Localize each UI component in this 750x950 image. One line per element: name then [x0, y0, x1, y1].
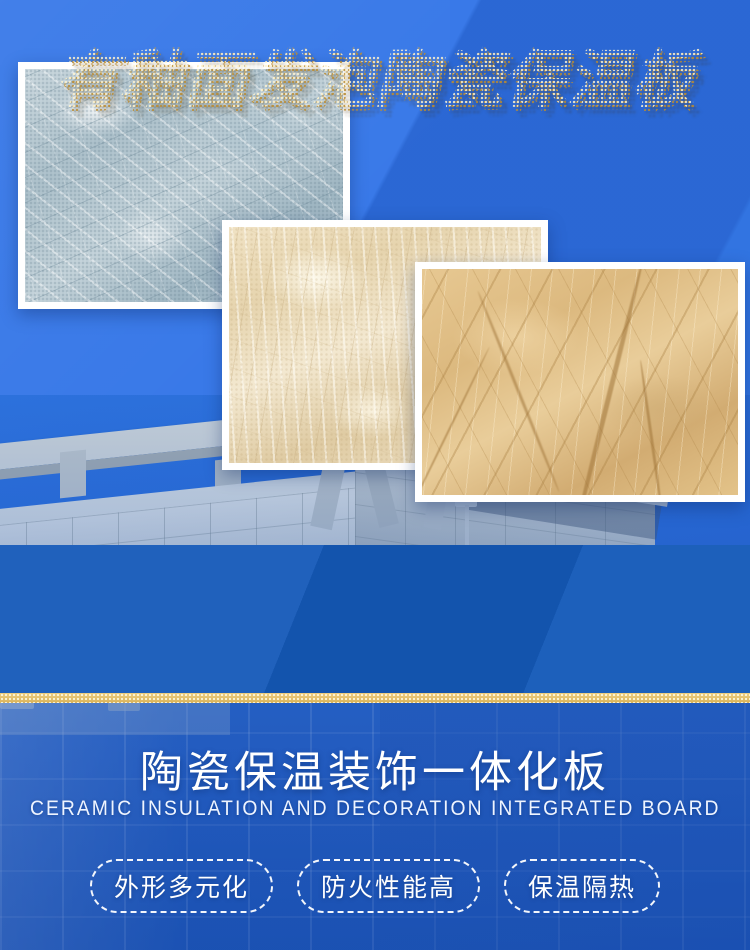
feature-badge-shape-diversity[interactable]: 外形多元化 — [90, 859, 273, 913]
marble-vein — [639, 360, 664, 495]
feature-badge-fire-resistance[interactable]: 防火性能高 — [297, 859, 480, 913]
subtitle-chinese: 陶瓷保温装饰一体化板 — [0, 738, 750, 800]
feature-badge-list: 外形多元化 防火性能高 保温隔热 — [0, 857, 750, 915]
product-banner: 有釉面发泡陶瓷保温板 陶瓷保温装饰一体化板 CERAMIC INSULATION… — [0, 0, 750, 950]
marble-vein — [476, 290, 560, 492]
sample-tile-tan-marble — [415, 262, 745, 502]
tile-surface-tan — [422, 269, 738, 495]
feature-badge-thermal-insulation[interactable]: 保温隔热 — [504, 859, 660, 913]
title-band-pattern — [0, 545, 750, 693]
marble-vein — [422, 346, 491, 495]
subtitle-english: CERAMIC INSULATION AND DECORATION INTEGR… — [30, 797, 720, 821]
title-band — [0, 545, 750, 693]
gold-divider — [0, 693, 750, 703]
main-title: 有釉面发泡陶瓷保温板 — [0, 0, 750, 148]
marble-vein — [570, 269, 646, 495]
